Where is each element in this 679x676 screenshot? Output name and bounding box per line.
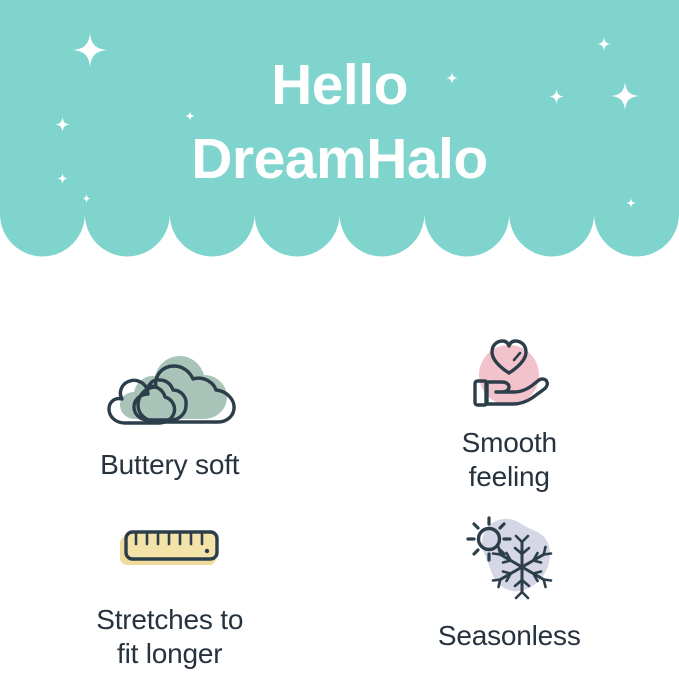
- cloud-icon: [96, 352, 244, 428]
- feature-item-smooth-feeling: Smooth feeling: [340, 262, 679, 493]
- feature-item-stretches: Stretches to fit longer: [0, 493, 340, 676]
- feature-label-buttery-soft: Buttery soft: [100, 448, 239, 482]
- sun-snowflake-icon-wrap: [456, 499, 562, 609]
- page-title: Hello DreamHalo: [0, 48, 679, 196]
- product-feature-poster: Hello DreamHalo Buttery soft: [0, 0, 679, 676]
- feature-item-seasonless: Seasonless: [340, 493, 679, 676]
- hero-banner: Hello DreamHalo: [0, 0, 679, 262]
- sun-snowflake-icon: [456, 505, 562, 603]
- feature-label-smooth-feeling: Smooth feeling: [462, 426, 557, 493]
- hand-heart-icon: [464, 333, 554, 413]
- cloud-icon-wrap: [96, 342, 244, 438]
- ruler-icon: [115, 524, 225, 576]
- feature-grid: Buttery soft Smooth feeling: [0, 262, 679, 676]
- ruler-icon-wrap: [115, 507, 225, 593]
- feature-item-buttery-soft: Buttery soft: [0, 262, 340, 493]
- feature-label-seasonless: Seasonless: [438, 619, 581, 653]
- hand-heart-icon-wrap: [464, 330, 554, 416]
- feature-label-stretches: Stretches to fit longer: [96, 603, 243, 670]
